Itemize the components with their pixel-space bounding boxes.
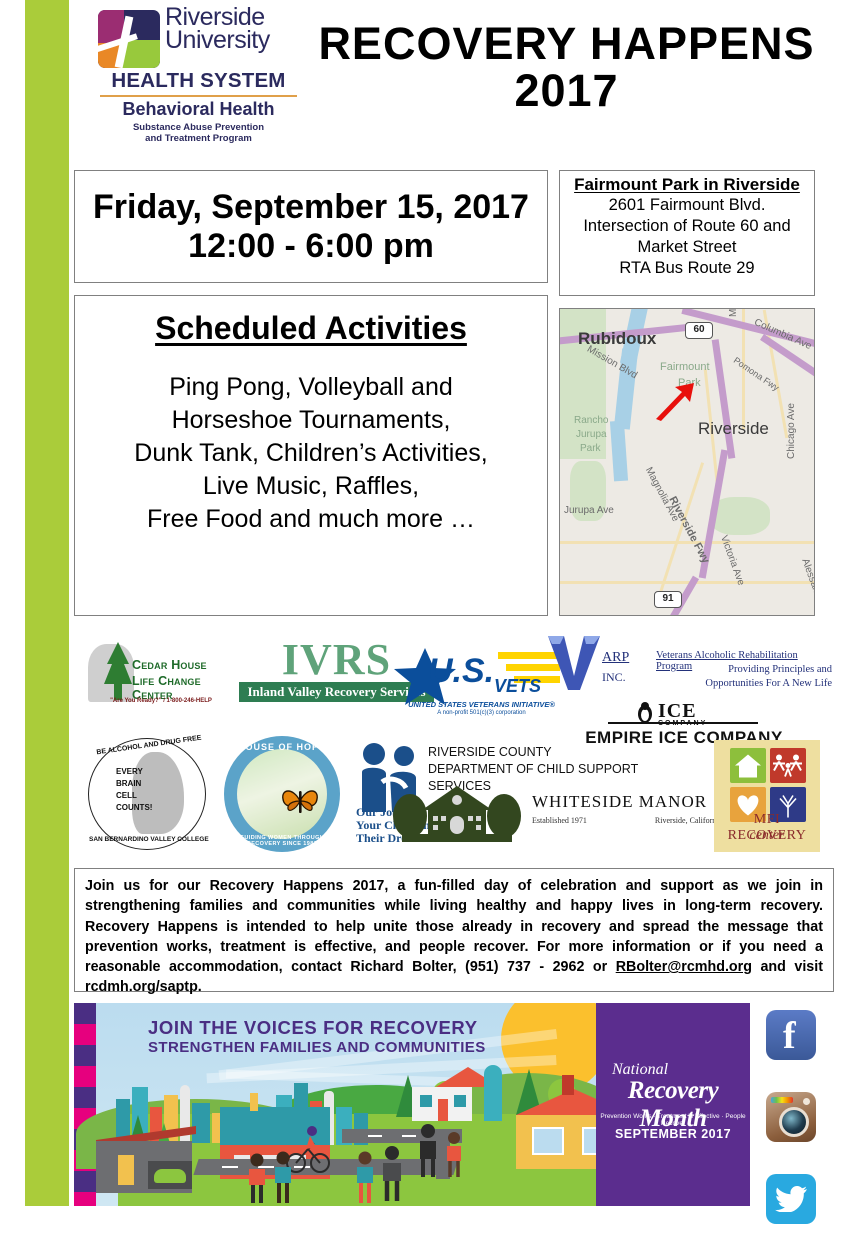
logo-subtitle: Substance Abuse Prevention and Treatment… bbox=[98, 123, 299, 145]
map-label-riverside: Riverside bbox=[698, 419, 769, 439]
sponsor-logo-cedar-house: Cedar House Life Change Center "Are You … bbox=[86, 642, 236, 710]
facebook-f-glyph: f bbox=[783, 1018, 796, 1054]
event-date-time-box: Friday, September 15, 2017 12:00 - 6:00 … bbox=[74, 170, 548, 283]
flyer-title: RECOVERY HAPPENS 2017 bbox=[299, 6, 834, 115]
map-label-main-st: Main St bbox=[728, 308, 739, 317]
person-icon bbox=[380, 1145, 404, 1203]
dcss-line1: RIVERSIDE COUNTY bbox=[428, 744, 656, 761]
cedar-house-line1: Cedar House bbox=[132, 658, 207, 672]
whiteside-location: Riverside, California bbox=[655, 816, 722, 825]
activity-line: Horseshoe Tournaments, bbox=[85, 404, 537, 437]
twitter-bird-glyph bbox=[775, 1186, 807, 1212]
map-label-jurupa-park: Park bbox=[580, 443, 601, 454]
instagram-lens bbox=[779, 1107, 809, 1137]
person-icon bbox=[272, 1151, 294, 1205]
sponsor-logo-whiteside-manor: WHITESIDE MANOR Established 1971 Riversi… bbox=[392, 780, 722, 846]
map-label-rancho: Rancho bbox=[574, 415, 608, 426]
flyer-header: Riverside University HEALTH SYSTEM Behav… bbox=[74, 6, 834, 158]
sponsor-logo-house-of-hope: HOUSE OF HOPE GUIDING WOMEN THROUGH RECO… bbox=[224, 736, 340, 852]
sbvc-inner-4: COUNTS! bbox=[116, 802, 152, 814]
left-green-accent-stripe bbox=[25, 0, 69, 1206]
sponsor-logo-us-vets: U.S. VETS UNITED STATES VETERANS INITIAT… bbox=[394, 646, 569, 721]
event-description-box: Join us for our Recovery Happens 2017, a… bbox=[74, 868, 834, 992]
activity-line: Free Food and much more … bbox=[85, 503, 537, 536]
house-of-hope-name: HOUSE OF HOPE bbox=[224, 742, 340, 752]
banner-subhead: STRENGTHEN FAMILIES AND COMMUNITIES bbox=[148, 1039, 486, 1056]
varp-arp: ARP bbox=[602, 650, 629, 666]
location-address: 2601 Fairmount Blvd. bbox=[564, 195, 810, 216]
sbvc-inner-1: EVERY bbox=[116, 766, 152, 778]
event-description-paragraph: Join us for our Recovery Happens 2017, a… bbox=[85, 876, 823, 998]
us-vets-mark: U.S. bbox=[428, 652, 494, 691]
map-label-jurupa: Jurupa bbox=[576, 429, 607, 440]
sponsor-logo-mfi-recovery: MFI RECOVERY center bbox=[714, 740, 820, 852]
map-shield-route-91: 91 bbox=[654, 591, 682, 608]
location-map-box: 60 91 Rubidoux Mission Blvd Fairmount Pa… bbox=[559, 308, 815, 616]
cedar-house-tagline: "Are You Ready?" / 1-800-246-HELP bbox=[86, 698, 236, 704]
logo-top-row: Riverside University bbox=[98, 6, 299, 68]
pine-tree-icon bbox=[102, 642, 134, 704]
manor-house-icon bbox=[392, 782, 522, 844]
whiteside-established: Established 1971 bbox=[532, 816, 587, 825]
sbvc-inner-3: CELL bbox=[116, 790, 152, 802]
instagram-icon[interactable] bbox=[766, 1092, 816, 1142]
butterfly-icon bbox=[279, 785, 321, 817]
mfi-name-line2: center bbox=[714, 828, 820, 844]
map-label-jurupa-ave: Jurupa Ave bbox=[564, 505, 614, 516]
riverside-university-health-system-logo: Riverside University HEALTH SYSTEM Behav… bbox=[74, 6, 299, 145]
sponsor-logo-sbvc: EVERY BRAIN CELL COUNTS! BE ALCOHOL AND … bbox=[88, 738, 206, 850]
person-icon bbox=[354, 1151, 376, 1205]
instagram-rainbow-strip bbox=[771, 1097, 793, 1103]
us-vets-sub1: UNITED STATES VETERANS INITIATIVE® bbox=[394, 700, 569, 709]
recovery-month-banner: JOIN THE VOICES FOR RECOVERY STRENGTHEN … bbox=[74, 1003, 750, 1206]
us-vets-sub2: A non-profit 501(c)(3) corporation bbox=[394, 710, 569, 716]
sponsor-logo-empire-ice: ICE COMPANY EMPIRE ICE COMPANY bbox=[574, 700, 794, 745]
nrm-tagline: Prevention Works · Treatment is Effectiv… bbox=[600, 1113, 746, 1127]
logo-divider-rule bbox=[100, 95, 297, 97]
varp-v-icon bbox=[546, 632, 602, 692]
logo-subtitle-line2: and Treatment Program bbox=[98, 134, 299, 145]
location-cross-street-2: Market Street bbox=[564, 237, 810, 258]
event-time: 12:00 - 6:00 pm bbox=[188, 227, 434, 265]
scheduled-activities-box: Scheduled Activities Ping Pong, Volleyba… bbox=[74, 295, 548, 616]
sponsor-logo-varp: ARP INC. Veterans Alcoholic Rehabilitati… bbox=[544, 632, 834, 702]
map-image: 60 91 Rubidoux Mission Blvd Fairmount Pa… bbox=[560, 309, 814, 615]
map-label-fairmount: Fairmount bbox=[660, 361, 710, 373]
facebook-icon[interactable]: f bbox=[766, 1010, 816, 1060]
title-line-1: RECOVERY HAPPENS bbox=[299, 20, 834, 67]
banner-checker-stripe bbox=[74, 1003, 96, 1206]
varp-inc: INC. bbox=[602, 670, 626, 685]
ruhs-logo-mark-icon bbox=[98, 10, 160, 68]
title-line-2: 2017 bbox=[299, 67, 834, 114]
event-location-box: Fairmount Park in Riverside 2601 Fairmou… bbox=[559, 170, 815, 296]
ice-penguin-icon bbox=[634, 702, 656, 724]
location-transit: RTA Bus Route 29 bbox=[564, 258, 810, 279]
logo-line-university: University bbox=[165, 29, 270, 52]
map-label-chicago-ave: Chicago Ave bbox=[786, 403, 797, 459]
person-icon bbox=[416, 1123, 440, 1179]
mfi-house-icon bbox=[730, 748, 766, 783]
banner-illustration: JOIN THE VOICES FOR RECOVERY STRENGTHEN … bbox=[96, 1003, 596, 1206]
banner-headline: JOIN THE VOICES FOR RECOVERY bbox=[148, 1017, 478, 1039]
house-of-hope-tagline: GUIDING WOMEN THROUGH RECOVERY SINCE 198… bbox=[224, 835, 340, 847]
activities-list: Ping Pong, Volleyball and Horseshoe Tour… bbox=[85, 371, 537, 536]
whiteside-manor-title: WHITESIDE MANOR bbox=[532, 792, 707, 812]
sbvc-arc-bottom: SAN BERNARDINO VALLEY COLLEGE bbox=[89, 836, 209, 843]
varp-tagline-3: Opportunities For A New Life bbox=[652, 678, 832, 689]
logo-wordmark: Riverside University bbox=[165, 6, 270, 52]
mfi-family-icon bbox=[770, 748, 806, 783]
sbvc-inner-2: BRAIN bbox=[116, 778, 152, 790]
person-icon bbox=[444, 1131, 464, 1179]
social-media-icons: f bbox=[766, 1010, 822, 1256]
map-pointer-arrow-icon bbox=[652, 381, 696, 421]
twitter-icon[interactable] bbox=[766, 1174, 816, 1224]
logo-health-system: HEALTH SYSTEM bbox=[98, 69, 299, 93]
instagram-viewfinder-dot bbox=[803, 1098, 810, 1105]
us-vets-vets: VETS bbox=[494, 676, 541, 697]
national-recovery-month-panel: National Recovery Month Prevention Works… bbox=[596, 1003, 750, 1206]
location-cross-street-1: Intersection of Route 60 and bbox=[564, 216, 810, 237]
location-heading: Fairmount Park in Riverside bbox=[564, 175, 810, 195]
sponsor-logos-section: Cedar House Life Change Center "Are You … bbox=[74, 628, 834, 860]
nrm-month: SEPTEMBER 2017 bbox=[600, 1127, 746, 1141]
map-shield-route-60: 60 bbox=[685, 322, 713, 339]
logo-behavioral-health: Behavioral Health bbox=[98, 99, 299, 120]
activity-line: Dunk Tank, Children’s Activities, bbox=[85, 437, 537, 470]
activity-line: Ping Pong, Volleyball and bbox=[85, 371, 537, 404]
person-icon bbox=[246, 1153, 268, 1205]
event-date: Friday, September 15, 2017 bbox=[93, 188, 529, 226]
contact-email-link[interactable]: RBolter@rcmhd.org bbox=[616, 959, 752, 975]
activities-heading: Scheduled Activities bbox=[85, 310, 537, 347]
varp-tagline-2: Providing Principles and bbox=[652, 664, 832, 675]
activity-line: Live Music, Raffles, bbox=[85, 470, 537, 503]
